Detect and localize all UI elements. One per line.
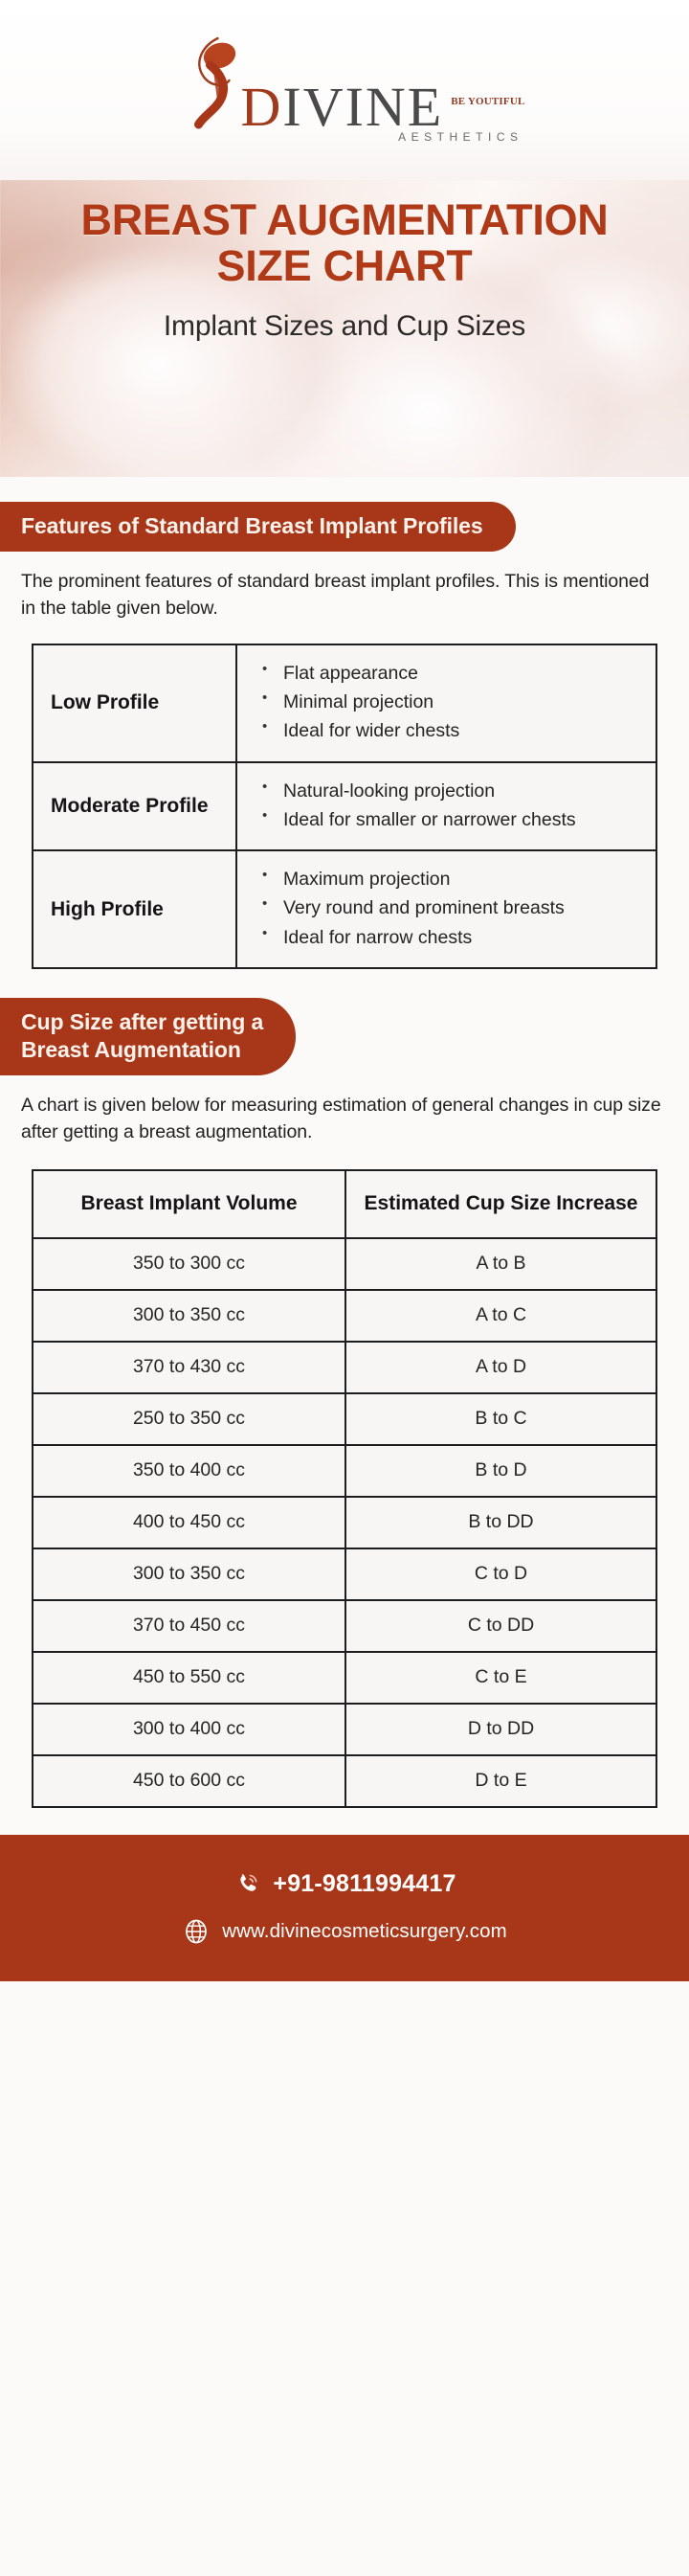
table-row: 300 to 350 ccA to C <box>33 1290 656 1342</box>
cup-size-table-body: 350 to 300 ccA to B300 to 350 ccA to C37… <box>33 1238 656 1807</box>
section2-paragraph: A chart is given below for measuring est… <box>0 1075 689 1145</box>
table-row: 350 to 400 ccB to D <box>33 1445 656 1497</box>
section1-heading: Features of Standard Breast Implant Prof… <box>0 502 516 552</box>
logo-bar: D IVINE BE YOUTIFUL AESTHETICS <box>0 0 689 180</box>
footer-phone-number[interactable]: +91-9811994417 <box>273 1870 456 1898</box>
table-header-row: Breast Implant Volume Estimated Cup Size… <box>33 1170 656 1238</box>
section1-paragraph: The prominent features of standard breas… <box>0 552 689 621</box>
profile-name: Low Profile <box>33 644 236 762</box>
divine-figure-icon <box>164 33 246 149</box>
implant-volume-cell: 250 to 350 cc <box>33 1393 345 1445</box>
hero-subtitle: Implant Sizes and Cup Sizes <box>19 310 670 343</box>
implant-volume-cell: 300 to 350 cc <box>33 1548 345 1600</box>
hero-text-block: BREAST AUGMENTATION SIZE CHART Implant S… <box>0 180 689 343</box>
footer-phone-line[interactable]: +91-9811994417 <box>0 1869 689 1898</box>
implant-volume-cell: 350 to 300 cc <box>33 1238 345 1290</box>
section2-heading: Cup Size after getting a Breast Augmenta… <box>0 998 296 1075</box>
list-item: Ideal for wider chests <box>255 716 642 745</box>
footer-website-url[interactable]: www.divinecosmeticsurgery.com <box>222 1920 507 1943</box>
cup-size-chart-table: Breast Implant Volume Estimated Cup Size… <box>32 1169 657 1808</box>
table-row: 400 to 450 ccB to DD <box>33 1497 656 1548</box>
table-row: 300 to 350 ccC to D <box>33 1548 656 1600</box>
table-row: High Profile Maximum projection Very rou… <box>33 850 656 968</box>
list-item: Ideal for smaller or narrower chests <box>255 805 642 834</box>
table-row: 370 to 450 ccC to DD <box>33 1600 656 1652</box>
table-row: Low Profile Flat appearance Minimal proj… <box>33 644 656 762</box>
list-item: Flat appearance <box>255 659 642 688</box>
cup-size-cell: D to DD <box>345 1704 656 1755</box>
section2-heading-row: Cup Size after getting a Breast Augmenta… <box>0 998 689 1075</box>
table-row: 250 to 350 ccB to C <box>33 1393 656 1445</box>
implant-volume-cell: 370 to 450 cc <box>33 1600 345 1652</box>
profile-name: High Profile <box>33 850 236 968</box>
section2-heading-line1: Cup Size after getting a <box>21 1008 263 1036</box>
table-row: 350 to 300 ccA to B <box>33 1238 656 1290</box>
implant-volume-cell: 300 to 400 cc <box>33 1704 345 1755</box>
brand-logo: D IVINE BE YOUTIFUL AESTHETICS <box>164 23 524 149</box>
brand-wordmark: D IVINE BE YOUTIFUL AESTHETICS <box>240 81 524 149</box>
profile-features: Flat appearance Minimal projection Ideal… <box>236 644 656 762</box>
cup-size-cell: C to DD <box>345 1600 656 1652</box>
logo-tagline: BE YOUTIFUL <box>451 97 524 106</box>
logo-word-rest: IVINE <box>282 81 443 132</box>
list-item: Minimal projection <box>255 688 642 716</box>
cup-size-cell: C to D <box>345 1548 656 1600</box>
column-header-cupsize: Estimated Cup Size Increase <box>345 1170 656 1238</box>
table-row: Moderate Profile Natural-looking project… <box>33 762 656 851</box>
hero-banner: BREAST AUGMENTATION SIZE CHART Implant S… <box>0 180 689 477</box>
table-row: 450 to 550 ccC to E <box>33 1652 656 1704</box>
table-row: 370 to 430 ccA to D <box>33 1342 656 1393</box>
implant-profiles-table: Low Profile Flat appearance Minimal proj… <box>32 644 657 970</box>
implant-volume-cell: 400 to 450 cc <box>33 1497 345 1548</box>
footer-contact-bar: +91-9811994417 www.divinecosmeticsurgery… <box>0 1835 689 1981</box>
profile-features: Maximum projection Very round and promin… <box>236 850 656 968</box>
footer-website-line[interactable]: www.divinecosmeticsurgery.com <box>0 1917 689 1946</box>
table-row: 450 to 600 ccD to E <box>33 1755 656 1807</box>
implant-volume-cell: 450 to 600 cc <box>33 1755 345 1807</box>
section1-heading-row: Features of Standard Breast Implant Prof… <box>0 502 689 552</box>
implant-volume-cell: 450 to 550 cc <box>33 1652 345 1704</box>
implant-volume-cell: 370 to 430 cc <box>33 1342 345 1393</box>
cup-size-cell: A to D <box>345 1342 656 1393</box>
table-row: 300 to 400 ccD to DD <box>33 1704 656 1755</box>
hero-title-line2: SIZE CHART <box>19 243 670 289</box>
cup-size-cell: A to B <box>345 1238 656 1290</box>
implant-volume-cell: 350 to 400 cc <box>33 1445 345 1497</box>
cup-size-cell: A to C <box>345 1290 656 1342</box>
cup-size-cell: D to E <box>345 1755 656 1807</box>
column-header-volume: Breast Implant Volume <box>33 1170 345 1238</box>
list-item: Ideal for narrow chests <box>255 923 642 952</box>
section2-heading-line2: Breast Augmentation <box>21 1036 263 1064</box>
cup-size-cell: C to E <box>345 1652 656 1704</box>
content-area: Features of Standard Breast Implant Prof… <box>0 502 689 1808</box>
profile-name: Moderate Profile <box>33 762 236 851</box>
infographic-page: D IVINE BE YOUTIFUL AESTHETICS BREAST AU… <box>0 0 689 2576</box>
list-item: Very round and prominent breasts <box>255 893 642 922</box>
list-item: Maximum projection <box>255 865 642 893</box>
implant-volume-cell: 300 to 350 cc <box>33 1290 345 1342</box>
hero-title-line1: BREAST AUGMENTATION <box>19 197 670 243</box>
profile-features: Natural-looking projection Ideal for sma… <box>236 762 656 851</box>
phone-icon <box>233 1869 261 1898</box>
cup-size-cell: B to D <box>345 1445 656 1497</box>
cup-size-cell: B to C <box>345 1393 656 1445</box>
cup-size-cell: B to DD <box>345 1497 656 1548</box>
logo-initial: D <box>240 81 282 132</box>
globe-icon <box>182 1917 211 1946</box>
list-item: Natural-looking projection <box>255 777 642 805</box>
